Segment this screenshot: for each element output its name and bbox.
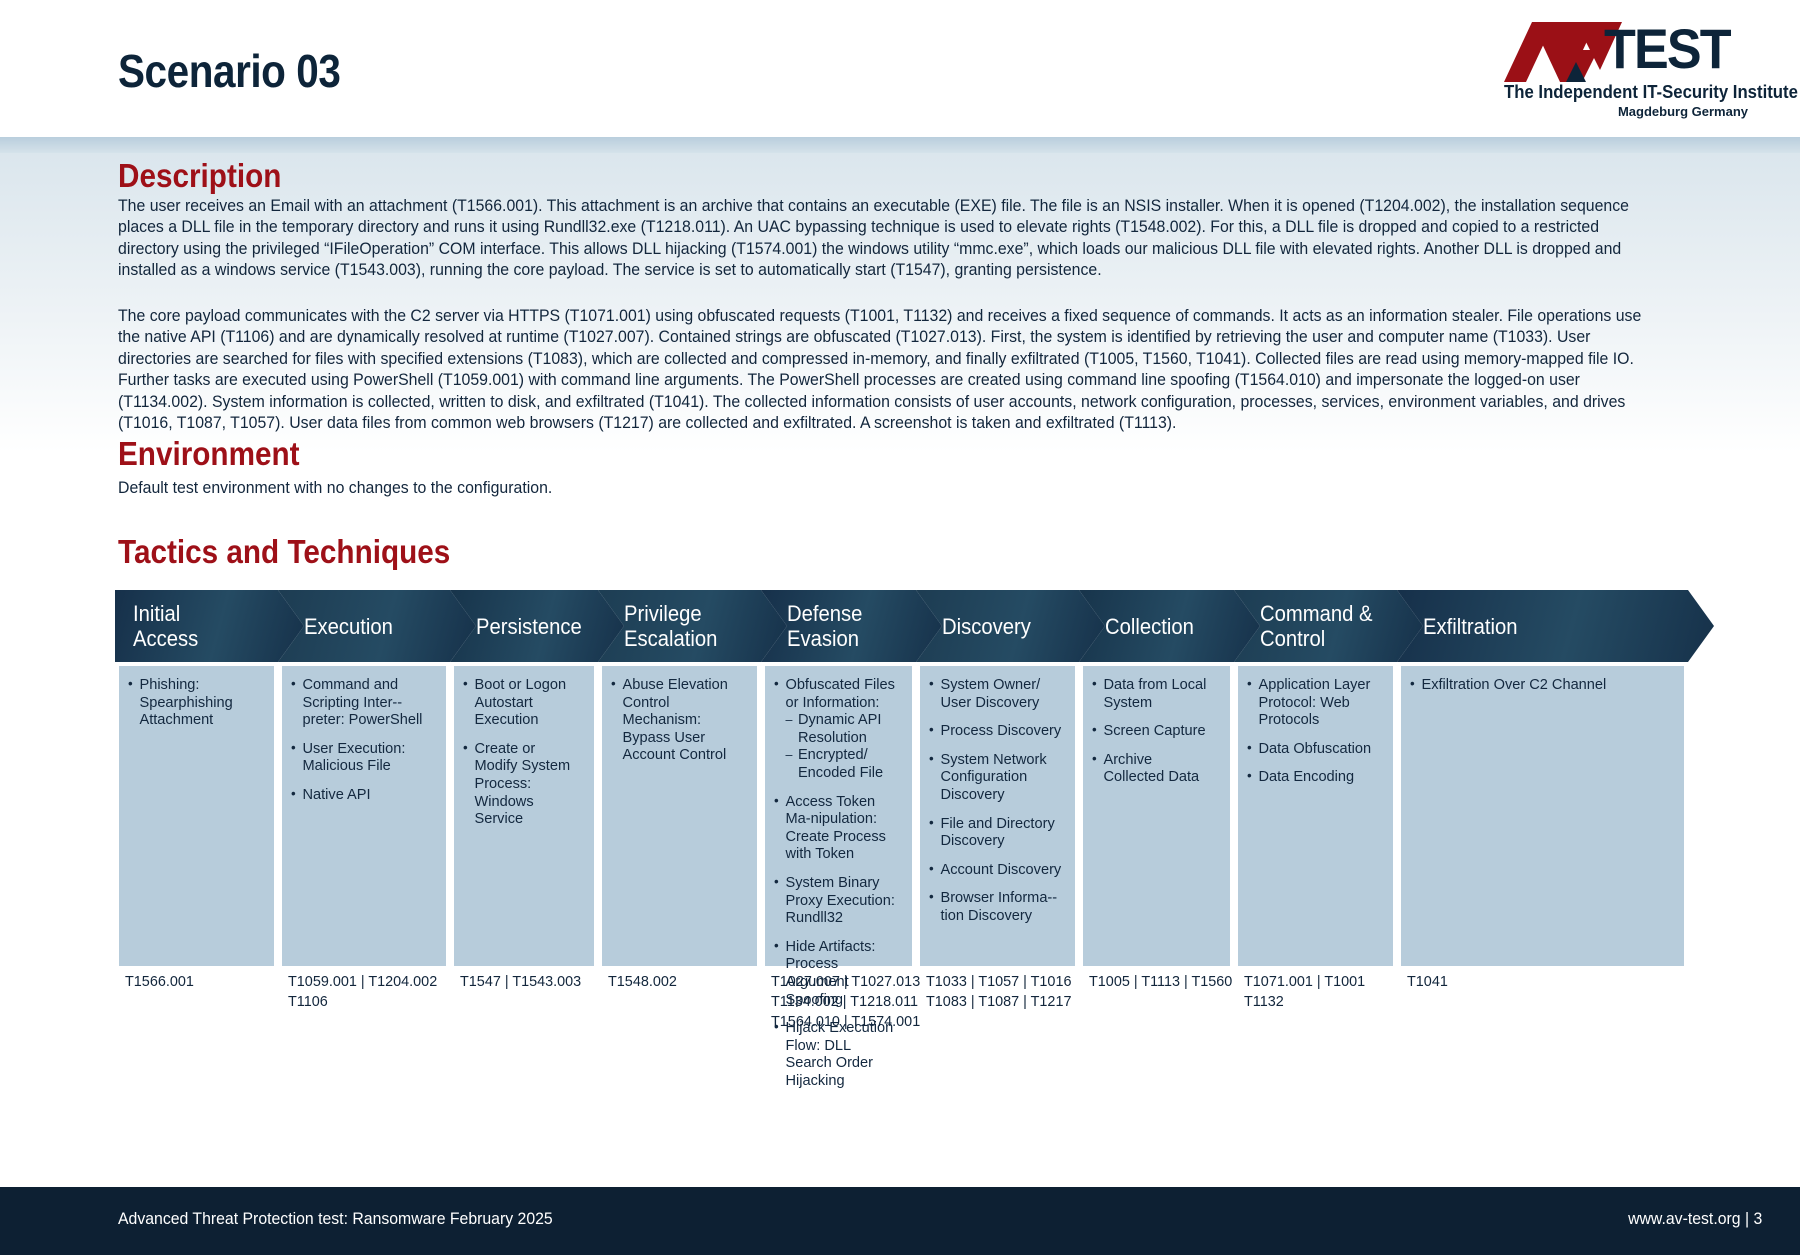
logo-location: Magdeburg Germany (1504, 104, 1748, 119)
technique-item: Application Layer Protocol: Web Protocol… (1246, 676, 1379, 729)
technique-sublist: Dynamic API ResolutionEncrypted/ Encoded… (785, 711, 898, 781)
technique-list: Boot or Logon Autostart ExecutionCreate … (462, 676, 586, 828)
page-footer: Advanced Threat Protection test: Ransomw… (0, 1187, 1800, 1255)
technique-subitem: Encrypted/ Encoded File (785, 746, 898, 781)
technique-list: System Owner/ User DiscoveryProcess Disc… (928, 676, 1067, 925)
tactic-header-label: Exfiltration (1423, 614, 1518, 639)
tactic-cell-0: Phishing: Spearphishing Attachment (119, 666, 274, 966)
logo-wordmark: TEST (1604, 20, 1730, 78)
technique-ids-7: T1071.001 | T1001 T1132 (1244, 972, 1365, 1012)
tactic-header-label: Persistence (476, 614, 582, 639)
technique-item: User Execution: Malicious File (290, 740, 432, 775)
tactics-header-row: Initial AccessExecutionPersistencePrivil… (115, 590, 1688, 662)
tactic-header-7: Command & Control (1234, 590, 1423, 662)
tactic-header-3: Privilege Escalation (598, 590, 787, 662)
technique-item: Exfiltration Over C2 Channel (1409, 676, 1665, 694)
tactic-header-label: Collection (1105, 614, 1194, 639)
technique-item: Command and Scripting Inter-­preter: Pow… (290, 676, 432, 729)
technique-list: Data from Local SystemScreen CaptureArch… (1091, 676, 1222, 786)
technique-item: Obfuscated Files or Information:Dynamic … (773, 676, 899, 782)
description-paragraph-1: The user receives an Email with an attac… (118, 195, 1644, 281)
tactic-header-label: Execution (304, 614, 393, 639)
tactic-cell-8: Exfiltration Over C2 Channel (1401, 666, 1684, 966)
logo-mark: TEST The Independent IT-Security Institu… (1504, 20, 1762, 82)
tactic-header-5: Discovery (916, 590, 1105, 662)
technique-subitem: Dynamic API Resolution (785, 711, 898, 746)
page-header: Scenario 03 TEST The Independent IT-Secu… (0, 0, 1800, 137)
technique-item: Screen Capture (1091, 722, 1217, 740)
tactic-cell-7: Application Layer Protocol: Web Protocol… (1238, 666, 1393, 966)
technique-list: Abuse Elevation Control Mechanism: Bypas… (610, 676, 749, 764)
technique-item: System Network Configuration Discovery (928, 751, 1061, 804)
tactics-id-row: T1566.001T1059.001 | T1204.002 T1106T154… (115, 972, 1688, 1042)
technique-item: Abuse Elevation Control Mechanism: Bypas… (610, 676, 743, 764)
tactic-header-8: Exfiltration (1397, 590, 1714, 662)
technique-item: Boot or Logon Autostart Execution (462, 676, 581, 729)
technique-list: Phishing: Spearphishing Attachment (127, 676, 266, 729)
environment-heading: Environment (118, 435, 300, 473)
technique-item: Browser Informa-­tion Discovery (928, 889, 1061, 924)
technique-item: System Owner/ User Discovery (928, 676, 1061, 711)
page-title: Scenario 03 (118, 44, 340, 98)
technique-ids-0: T1566.001 (125, 972, 194, 992)
tactic-cell-5: System Owner/ User DiscoveryProcess Disc… (920, 666, 1075, 966)
technique-ids-3: T1548.002 (608, 972, 677, 992)
technique-item: Archive Collected Data (1091, 751, 1217, 786)
technique-item: Account Discovery (928, 861, 1061, 879)
technique-list: Exfiltration Over C2 Channel (1409, 676, 1676, 694)
technique-item: Phishing: Spearphishing Attachment (127, 676, 260, 729)
tactics-body-row: Phishing: Spearphishing AttachmentComman… (115, 666, 1688, 966)
tactic-header-label: Discovery (942, 614, 1031, 639)
tactic-header-6: Collection (1079, 590, 1260, 662)
technique-item: System Binary Proxy Execution: Rundll32 (773, 874, 899, 927)
tactic-header-label: Privilege Escalation (624, 601, 717, 651)
tactic-cell-4: Obfuscated Files or Information:Dynamic … (765, 666, 912, 966)
technique-ids-2: T1547 | T1543.003 (460, 972, 581, 992)
description-heading: Description (118, 157, 281, 195)
header-divider-band (0, 137, 1800, 153)
technique-item: Data Encoding (1246, 768, 1379, 786)
tactic-cell-2: Boot or Logon Autostart ExecutionCreate … (454, 666, 594, 966)
technique-item: Data from Local System (1091, 676, 1217, 711)
tactic-header-2: Persistence (450, 590, 624, 662)
tactic-header-1: Execution (278, 590, 476, 662)
av-test-logo: TEST The Independent IT-Security Institu… (1504, 20, 1762, 120)
tactic-header-label: Defense Evasion (787, 601, 862, 651)
technique-item: Access Token Ma-­nipulation: Create Proc… (773, 793, 899, 863)
tactic-cell-6: Data from Local SystemScreen CaptureArch… (1083, 666, 1230, 966)
technique-list: Command and Scripting Inter-­preter: Pow… (290, 676, 438, 804)
footer-test-name: Advanced Threat Protection test: Ransomw… (118, 1209, 553, 1229)
tactic-header-4: Defense Evasion (761, 590, 942, 662)
tactic-cell-1: Command and Scripting Inter-­preter: Pow… (282, 666, 446, 966)
technique-item: Create or Modify System Process: Windows… (462, 740, 581, 828)
technique-item: Native API (290, 786, 432, 804)
technique-item: Data Obfuscation (1246, 740, 1379, 758)
tactic-header-label: Command & Control (1260, 601, 1372, 651)
tactic-header-0: Initial Access (115, 590, 304, 662)
technique-item: Process Discovery (928, 722, 1061, 740)
environment-text: Default test environment with no changes… (118, 477, 1551, 498)
tactics-table: Initial AccessExecutionPersistencePrivil… (115, 590, 1688, 1042)
footer-url-page: www.av-test.org | 3 (1628, 1209, 1762, 1229)
technique-list: Application Layer Protocol: Web Protocol… (1246, 676, 1385, 786)
technique-ids-5: T1033 | T1057 | T1016 T1083 | T1087 | T1… (926, 972, 1071, 1012)
tactics-heading: Tactics and Techniques (118, 533, 450, 571)
technique-ids-6: T1005 | T1113 | T1560 (1089, 972, 1232, 992)
description-paragraph-2: The core payload communicates with the C… (118, 305, 1644, 433)
logo-tagline: The Independent IT-Security Institute (1504, 82, 1744, 103)
technique-ids-1: T1059.001 | T1204.002 T1106 (288, 972, 437, 1012)
technique-ids-8: T1041 (1407, 972, 1448, 992)
technique-ids-4: T1027.007 | T1027.013 T1134.002 | T1218.… (771, 972, 920, 1032)
tactic-cell-3: Abuse Elevation Control Mechanism: Bypas… (602, 666, 757, 966)
tactic-header-label: Initial Access (133, 601, 198, 651)
technique-item: File and Directory Discovery (928, 815, 1061, 850)
